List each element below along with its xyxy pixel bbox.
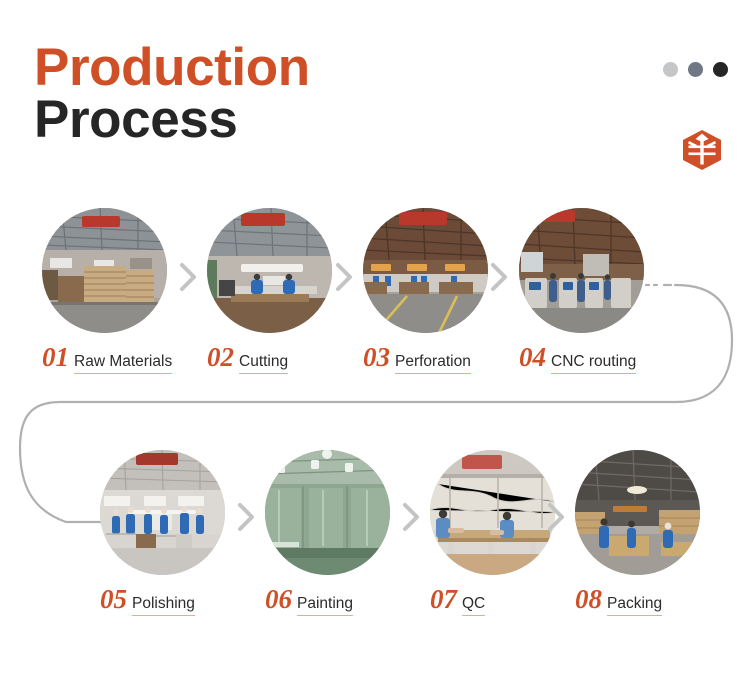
process-step-06-caption: 06 Painting [265, 584, 415, 616]
chevron-right-icon-1 [178, 262, 198, 292]
production-process-infographic: Production Process [0, 0, 750, 677]
process-step-02-caption: 02 Cutting [207, 342, 357, 374]
page-title-line-1: Production [34, 42, 310, 94]
process-step-03-image [363, 208, 488, 333]
dot-medium-icon [688, 62, 703, 77]
process-step-05-label: Polishing [132, 595, 195, 616]
process-step-05-image [100, 450, 225, 575]
process-step-04[interactable]: 04 CNC routing [519, 208, 669, 374]
process-step-06-image [265, 450, 390, 575]
process-step-07-number: 07 [430, 584, 457, 615]
dot-dark-icon [713, 62, 728, 77]
page-title: Production Process [34, 42, 310, 146]
process-step-01[interactable]: 01 Raw Materials [42, 208, 192, 374]
process-step-07-caption: 07 QC [430, 584, 580, 616]
chevron-right-icon-4 [236, 502, 256, 532]
process-step-07-image [430, 450, 555, 575]
process-step-02-label: Cutting [239, 353, 288, 374]
process-step-03-caption: 03 Perforation [363, 342, 513, 374]
chevron-right-icon-6 [546, 502, 566, 532]
process-step-02-image [207, 208, 332, 333]
process-step-04-image [519, 208, 644, 333]
hexagon-brand-logo-icon [683, 130, 721, 170]
process-step-04-number: 04 [519, 342, 546, 373]
process-step-05[interactable]: 05 Polishing [100, 450, 250, 616]
process-step-05-number: 05 [100, 584, 127, 615]
process-step-08-number: 08 [575, 584, 602, 615]
process-step-06-label: Painting [297, 595, 353, 616]
process-step-03-number: 03 [363, 342, 390, 373]
process-step-08-image [575, 450, 700, 575]
process-row-bottom: 05 Polishing [0, 450, 750, 630]
process-step-06[interactable]: 06 Painting [265, 450, 415, 616]
process-step-03-label: Perforation [395, 353, 471, 374]
page-title-line-2: Process [34, 94, 310, 146]
process-step-02-number: 02 [207, 342, 234, 373]
process-step-04-label: CNC routing [551, 353, 636, 374]
process-step-07-label: QC [462, 595, 485, 616]
process-row-top: 01 Raw Materials [0, 208, 750, 383]
process-step-01-image [42, 208, 167, 333]
process-step-08[interactable]: 08 Packing [575, 450, 725, 616]
process-step-08-label: Packing [607, 595, 662, 616]
process-step-01-number: 01 [42, 342, 69, 373]
process-step-04-caption: 04 CNC routing [519, 342, 669, 374]
process-step-08-caption: 08 Packing [575, 584, 725, 616]
dot-light-icon [663, 62, 678, 77]
chevron-right-icon-3 [489, 262, 509, 292]
process-step-07[interactable]: 07 QC [430, 450, 580, 616]
process-step-01-label: Raw Materials [74, 353, 172, 374]
chevron-right-icon-2 [334, 262, 354, 292]
process-step-01-caption: 01 Raw Materials [42, 342, 192, 374]
decorative-dot-cluster [663, 62, 728, 77]
chevron-right-icon-5 [401, 502, 421, 532]
process-step-05-caption: 05 Polishing [100, 584, 250, 616]
process-step-06-number: 06 [265, 584, 292, 615]
